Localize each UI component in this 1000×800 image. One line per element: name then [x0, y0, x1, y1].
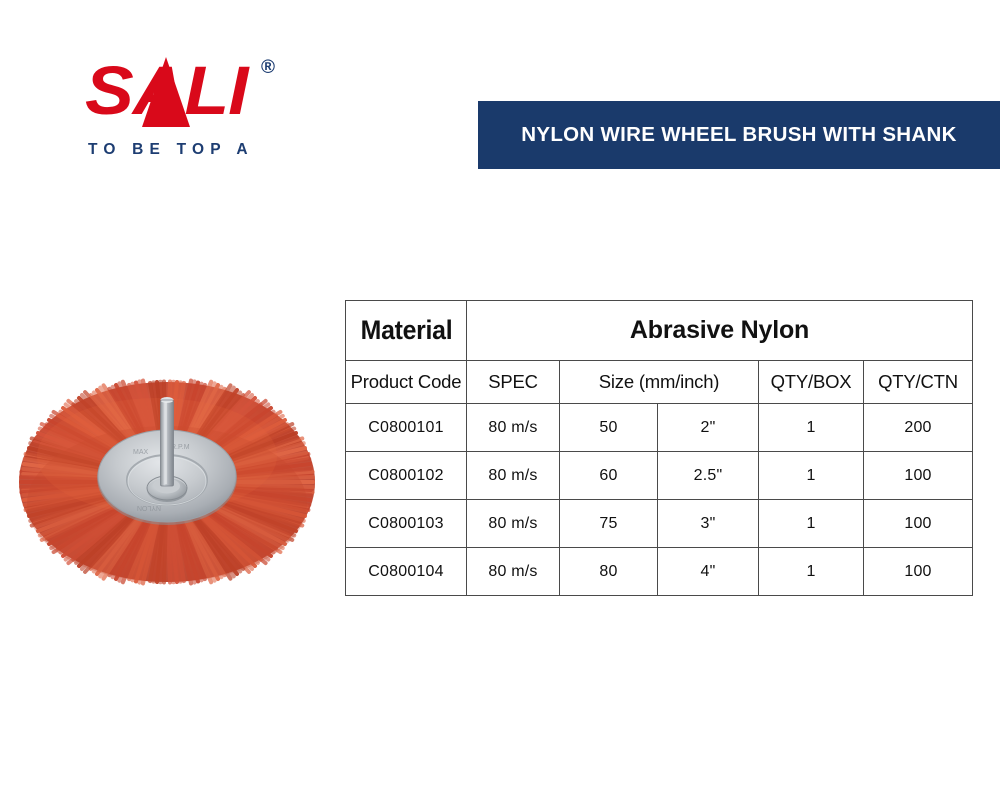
steel-shank [161, 397, 174, 486]
title-banner: NYLON WIRE WHEEL BRUSH WITH SHANK [478, 101, 1000, 169]
cell-qty-ctn: 200 [864, 404, 973, 452]
cell-size-inch: 2.5" [658, 452, 759, 500]
cell-spec: 80 m/s [467, 404, 560, 452]
cell-size-mm: 50 [560, 404, 658, 452]
logo-wedge-shape [142, 57, 190, 127]
cell-size-inch: 2" [658, 404, 759, 452]
cell-qty-ctn: 100 [864, 548, 973, 596]
cell-size-mm: 80 [560, 548, 658, 596]
cell-product-code: C0800104 [346, 548, 467, 596]
cell-size-mm: 60 [560, 452, 658, 500]
cell-spec: 80 m/s [467, 452, 560, 500]
cell-qty-box: 1 [759, 500, 864, 548]
cell-product-code: C0800101 [346, 404, 467, 452]
material-label-cell: Material [350, 301, 461, 361]
specification-table-container: Material Abrasive Nylon Product Code SPE… [345, 300, 972, 596]
table-row: C0800103 80 m/s 75 3" 1 100 [346, 500, 973, 548]
cell-size-inch: 3" [658, 500, 759, 548]
column-header-spec: SPEC [467, 361, 560, 404]
cell-spec: 80 m/s [467, 548, 560, 596]
column-header-qty-ctn: QTY/CTN [864, 361, 973, 404]
nylon-wheel-brush-illustration: MAX R.P.M NYLON [12, 372, 322, 587]
cell-product-code: C0800103 [346, 500, 467, 548]
brand-tagline: TO BE TOP A [88, 141, 254, 159]
cell-qty-box: 1 [759, 548, 864, 596]
cell-qty-ctn: 100 [864, 500, 973, 548]
specification-table: Material Abrasive Nylon Product Code SPE… [345, 300, 973, 596]
cell-qty-box: 1 [759, 404, 864, 452]
table-row: C0800101 80 m/s 50 2" 1 200 [346, 404, 973, 452]
cell-spec: 80 m/s [467, 500, 560, 548]
cell-product-code: C0800102 [346, 452, 467, 500]
column-header-size: Size (mm/inch) [560, 361, 759, 404]
page-header: SALI ® TO BE TOP A NYLON WIRE WHEEL BRUS… [0, 0, 1000, 190]
svg-text:MAX: MAX [133, 449, 149, 456]
cell-qty-box: 1 [759, 452, 864, 500]
cell-size-inch: 4" [658, 548, 759, 596]
cell-qty-ctn: 100 [864, 452, 973, 500]
table-row: C0800104 80 m/s 80 4" 1 100 [346, 548, 973, 596]
table-row-column-headers: Product Code SPEC Size (mm/inch) QTY/BOX… [346, 361, 973, 404]
cell-size-mm: 75 [560, 500, 658, 548]
table-row-material: Material Abrasive Nylon [346, 301, 973, 361]
product-photo: MAX R.P.M NYLON [12, 372, 322, 587]
column-header-qty-box: QTY/BOX [759, 361, 864, 404]
material-value-cell: Abrasive Nylon [467, 301, 973, 361]
registered-trademark-icon: ® [261, 57, 275, 79]
table-row: C0800102 80 m/s 60 2.5" 1 100 [346, 452, 973, 500]
svg-text:NYLON: NYLON [137, 504, 161, 511]
product-title: NYLON WIRE WHEEL BRUSH WITH SHANK [521, 123, 956, 147]
logo-wordmark: SALI ® [85, 55, 285, 127]
column-header-product-code: Product Code [346, 361, 467, 404]
brand-logo: SALI ® TO BE TOP A [85, 55, 385, 170]
